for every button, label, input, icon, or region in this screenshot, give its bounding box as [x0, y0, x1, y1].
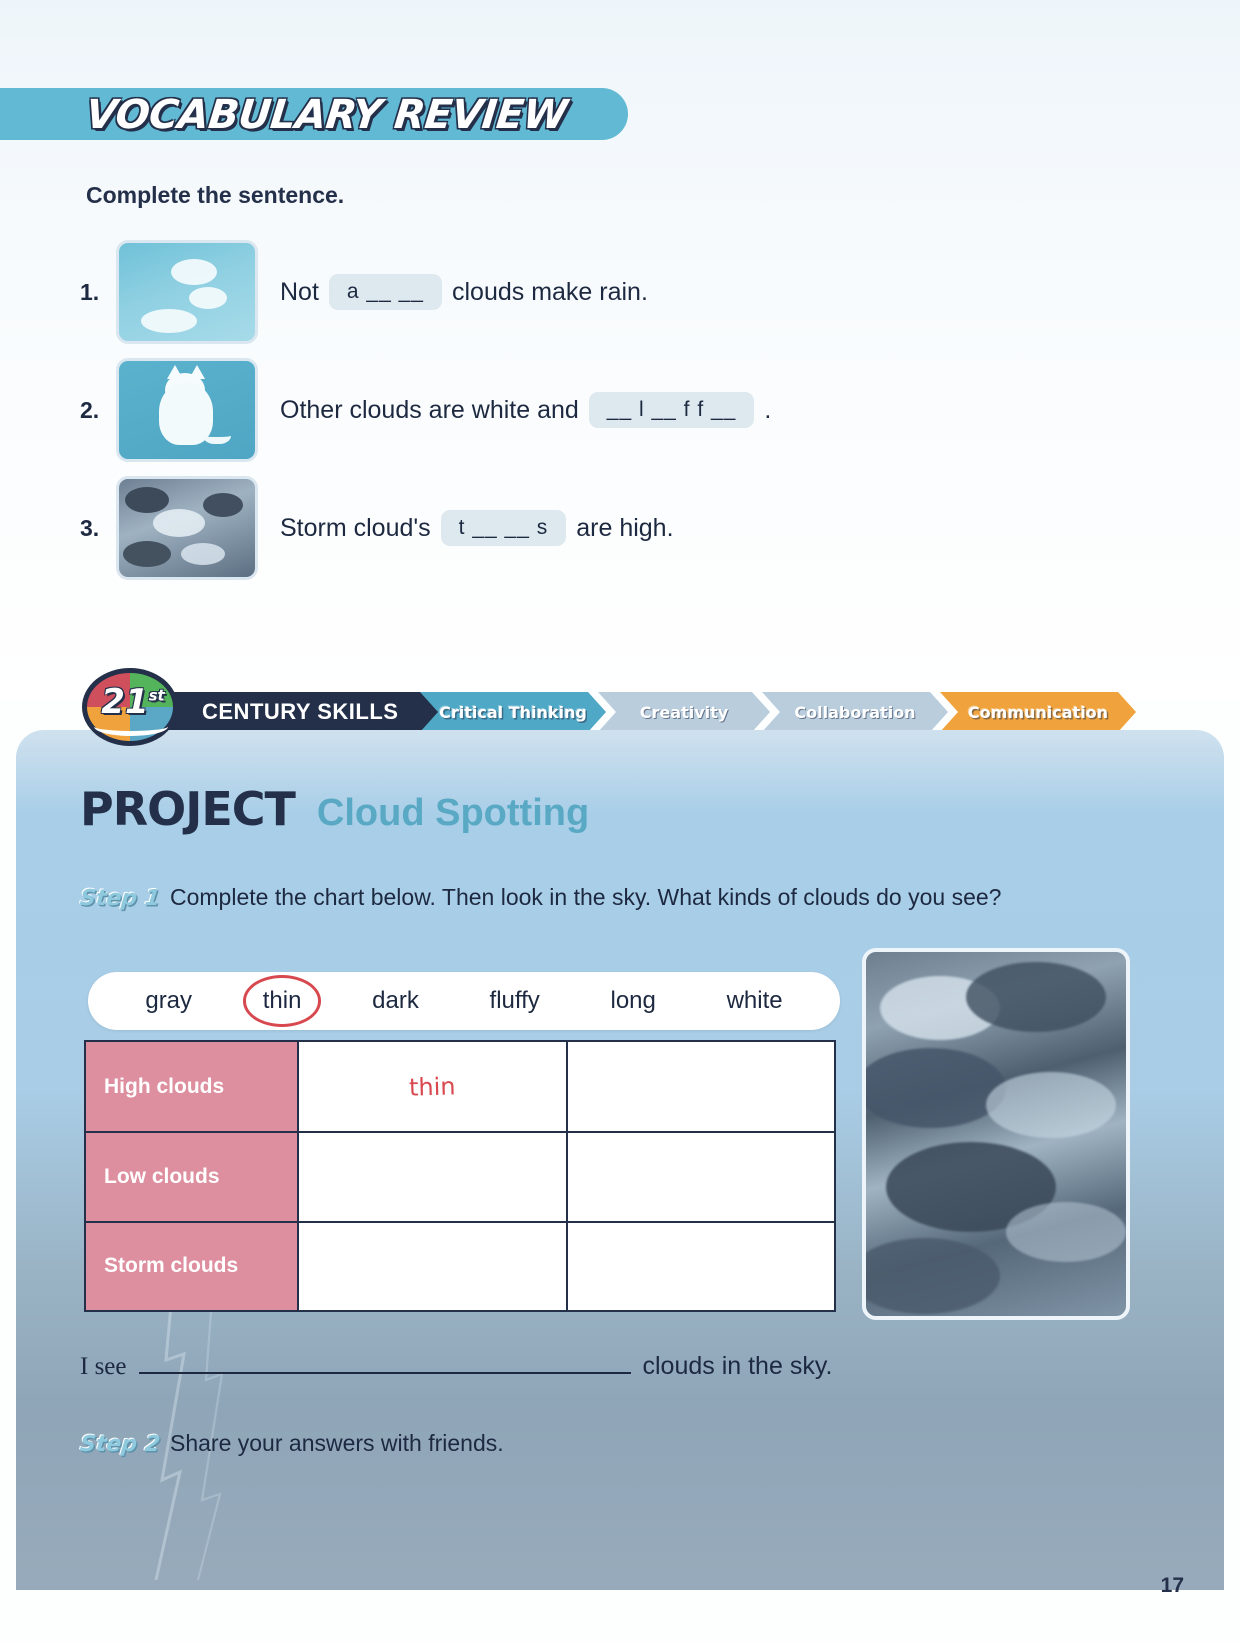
table-row: High clouds thin — [86, 1042, 834, 1131]
storm-clouds-photo — [862, 948, 1130, 1320]
table-cell-storm-2[interactable] — [568, 1223, 835, 1310]
row-header-low-clouds: Low clouds — [86, 1133, 299, 1220]
project-heading: PROJECT Cloud Spotting — [80, 782, 589, 836]
worksheet-page: VOCABULARY REVIEW Complete the sentence.… — [0, 0, 1240, 1642]
answer-blank-1[interactable]: a __ __ — [329, 274, 442, 310]
step-2-instruction: Step 2Share your answers with friends. — [80, 1428, 504, 1460]
sentence-text-before: Storm cloud's — [280, 514, 431, 543]
logo-number: 21 — [101, 682, 148, 722]
table-cell-high-2[interactable] — [568, 1042, 835, 1131]
table-row: Low clouds — [86, 1131, 834, 1220]
item-number: 2. — [80, 397, 116, 424]
word-bank-item-fluffy[interactable]: fluffy — [482, 985, 548, 1017]
project-title: PROJECT — [80, 782, 295, 836]
word-bank: gray thin dark fluffy long white — [88, 972, 840, 1030]
i-see-blank-line[interactable] — [139, 1371, 631, 1374]
vocabulary-item-1: 1. Not a __ __ clouds make rain. — [80, 240, 648, 344]
sentence-text-after: are high. — [576, 514, 673, 543]
item-number: 1. — [80, 279, 116, 306]
vocabulary-item-2: 2. Other clouds are white and __ l __ f … — [80, 358, 771, 462]
i-see-prefix: I see — [80, 1353, 127, 1381]
logo-suffix: st — [149, 687, 165, 705]
word-bank-item-long[interactable]: long — [602, 985, 663, 1017]
row-header-high-clouds: High clouds — [86, 1042, 299, 1131]
step-2-text: Share your answers with friends. — [170, 1430, 504, 1456]
i-see-suffix: clouds in the sky. — [643, 1352, 833, 1381]
table-cell-high-1[interactable]: thin — [299, 1042, 568, 1131]
cell-answer: thin — [409, 1072, 456, 1101]
project-panel: PROJECT Cloud Spotting Step 1Complete th… — [16, 730, 1224, 1590]
cloud-chart-table: High clouds thin Low clouds Storm clouds — [84, 1040, 836, 1312]
skill-tab-critical-thinking[interactable]: Critical Thinking — [420, 692, 606, 732]
sentence-text-before: Other clouds are white and — [280, 396, 579, 425]
step-1-badge: Step 1 — [78, 884, 161, 914]
vocabulary-item-3: 3. Storm cloud's t __ __ s are high. — [80, 476, 674, 580]
step-1-instruction: Step 1Complete the chart below. Then loo… — [80, 882, 1110, 914]
row-header-storm-clouds: Storm clouds — [86, 1223, 299, 1310]
skill-tab-collaboration[interactable]: Collaboration — [762, 692, 948, 732]
page-number: 17 — [1161, 1574, 1184, 1598]
word-bank-item-white[interactable]: white — [719, 985, 791, 1017]
table-cell-low-2[interactable] — [568, 1133, 835, 1220]
century-skills-label: CENTURY SKILLS — [168, 692, 424, 732]
skill-tab-label: Critical Thinking — [433, 703, 593, 722]
item-number: 3. — [80, 515, 116, 542]
sentence-text-after: . — [764, 396, 771, 425]
step-2-badge: Step 2 — [78, 1430, 161, 1460]
table-row: Storm clouds — [86, 1221, 834, 1310]
project-subtitle: Cloud Spotting — [317, 792, 589, 835]
i-see-sentence: I see clouds in the sky. — [80, 1352, 832, 1381]
page-title: VOCABULARY REVIEW — [84, 92, 570, 138]
skill-tab-label: Communication — [962, 703, 1114, 722]
sky-clouds-image — [116, 240, 258, 344]
storm-clouds-image — [116, 476, 258, 580]
white-cat-image — [116, 358, 258, 462]
skill-tab-label: Creativity — [634, 703, 734, 722]
item-sentence: Storm cloud's t __ __ s are high. — [280, 510, 674, 546]
word-bank-item-gray[interactable]: gray — [137, 985, 200, 1017]
skill-tab-creativity[interactable]: Creativity — [598, 692, 770, 732]
item-sentence: Other clouds are white and __ l __ f f _… — [280, 392, 771, 428]
step-1-text: Complete the chart below. Then look in t… — [170, 884, 1001, 910]
sentence-text-after: clouds make rain. — [452, 278, 648, 307]
word-bank-item-dark[interactable]: dark — [364, 985, 427, 1017]
table-cell-storm-1[interactable] — [299, 1223, 568, 1310]
skill-tab-communication[interactable]: Communication — [940, 692, 1136, 732]
answer-blank-3[interactable]: t __ __ s — [441, 510, 567, 546]
skill-tab-label: Collaboration — [788, 703, 921, 722]
word-bank-item-thin[interactable]: thin — [255, 985, 310, 1017]
item-sentence: Not a __ __ clouds make rain. — [280, 274, 648, 310]
sentence-text-before: Not — [280, 278, 319, 307]
answer-blank-2[interactable]: __ l __ f f __ — [589, 392, 755, 428]
section-instruction: Complete the sentence. — [86, 182, 344, 209]
table-cell-low-1[interactable] — [299, 1133, 568, 1220]
21st-century-logo-icon: 21st — [80, 668, 184, 746]
